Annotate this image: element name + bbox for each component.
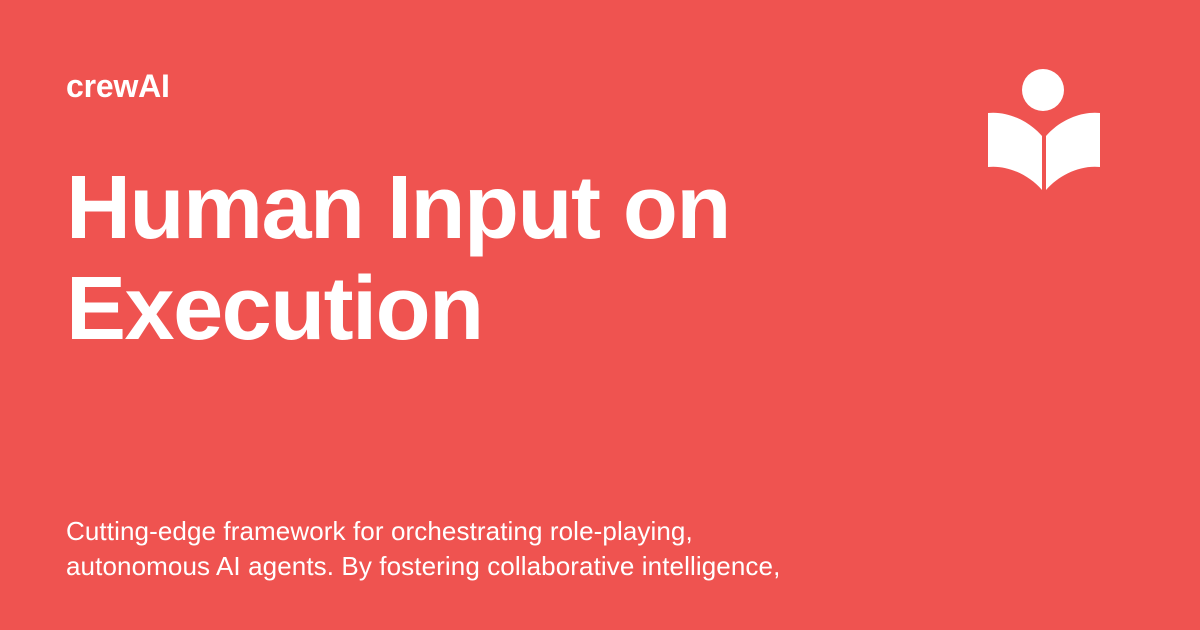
description-line: Cutting-edge framework for orchestrating… bbox=[66, 514, 896, 549]
page-description: Cutting-edge framework for orchestrating… bbox=[66, 514, 896, 584]
og-preview-card: crewAI Human Input on Execution Cutting-… bbox=[0, 0, 1200, 630]
page-title: Human Input on Execution bbox=[66, 158, 946, 360]
description-line: autonomous AI agents. By fostering colla… bbox=[66, 549, 896, 584]
brand-logo: crewAI bbox=[66, 70, 170, 102]
brand-name: crewAI bbox=[66, 70, 170, 102]
open-book-reader-icon bbox=[986, 62, 1102, 194]
